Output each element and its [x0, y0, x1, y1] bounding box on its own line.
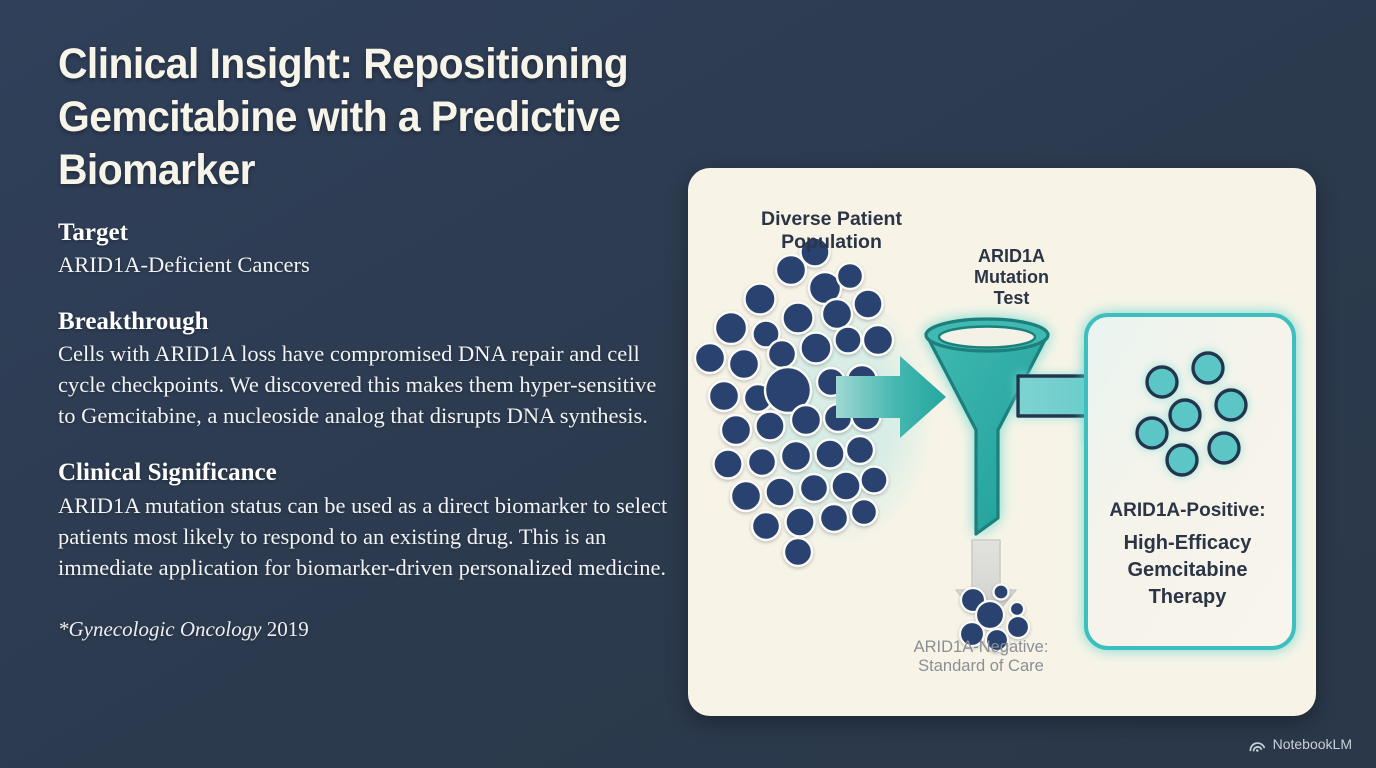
section-body-significance: ARID1A mutation status can be used as a …: [58, 490, 678, 583]
citation-year: 2019: [267, 617, 309, 641]
label-arid1a-positive-title: ARID1A-Positive:: [1070, 500, 1305, 522]
section-heading-significance: Clinical Significance: [58, 457, 678, 488]
label-arid1a-negative: ARID1A-Negative: Standard of Care: [866, 638, 1096, 677]
funnel-icon: [926, 319, 1048, 534]
page-title: Clinical Insight: Repositioning Gemcitab…: [58, 38, 647, 197]
citation: *Gynecologic Oncology 2019: [58, 617, 678, 642]
label-diverse-patient-population: Diverse Patient Population: [714, 208, 949, 254]
watermark-label: NotebookLM: [1273, 736, 1352, 752]
section-target: Target ARID1A-Deficient Cancers: [58, 217, 678, 280]
citation-journal: Gynecologic Oncology: [69, 617, 262, 641]
section-heading-breakthrough: Breakthrough: [58, 306, 678, 337]
content-column: Clinical Insight: Repositioning Gemcitab…: [58, 38, 678, 642]
diagram-panel: Diverse Patient Population ARID1A Mutati…: [688, 168, 1316, 716]
section-body-breakthrough: Cells with ARID1A loss have compromised …: [58, 338, 678, 431]
section-breakthrough: Breakthrough Cells with ARID1A loss have…: [58, 306, 678, 431]
label-arid1a-mutation-test: ARID1A Mutation Test: [934, 246, 1089, 310]
section-body-target: ARID1A-Deficient Cancers: [58, 249, 678, 280]
section-heading-target: Target: [58, 217, 678, 248]
citation-journal-wrap: *Gynecologic Oncology: [58, 617, 262, 641]
watermark: NotebookLM: [1249, 736, 1352, 752]
slide-canvas: Clinical Insight: Repositioning Gemcitab…: [0, 0, 1376, 768]
notebooklm-icon: [1249, 737, 1266, 752]
section-clinical-significance: Clinical Significance ARID1A mutation st…: [58, 457, 678, 582]
label-arid1a-positive-body: High-Efficacy Gemcitabine Therapy: [1070, 530, 1305, 610]
citation-asterisk: *: [58, 617, 69, 641]
